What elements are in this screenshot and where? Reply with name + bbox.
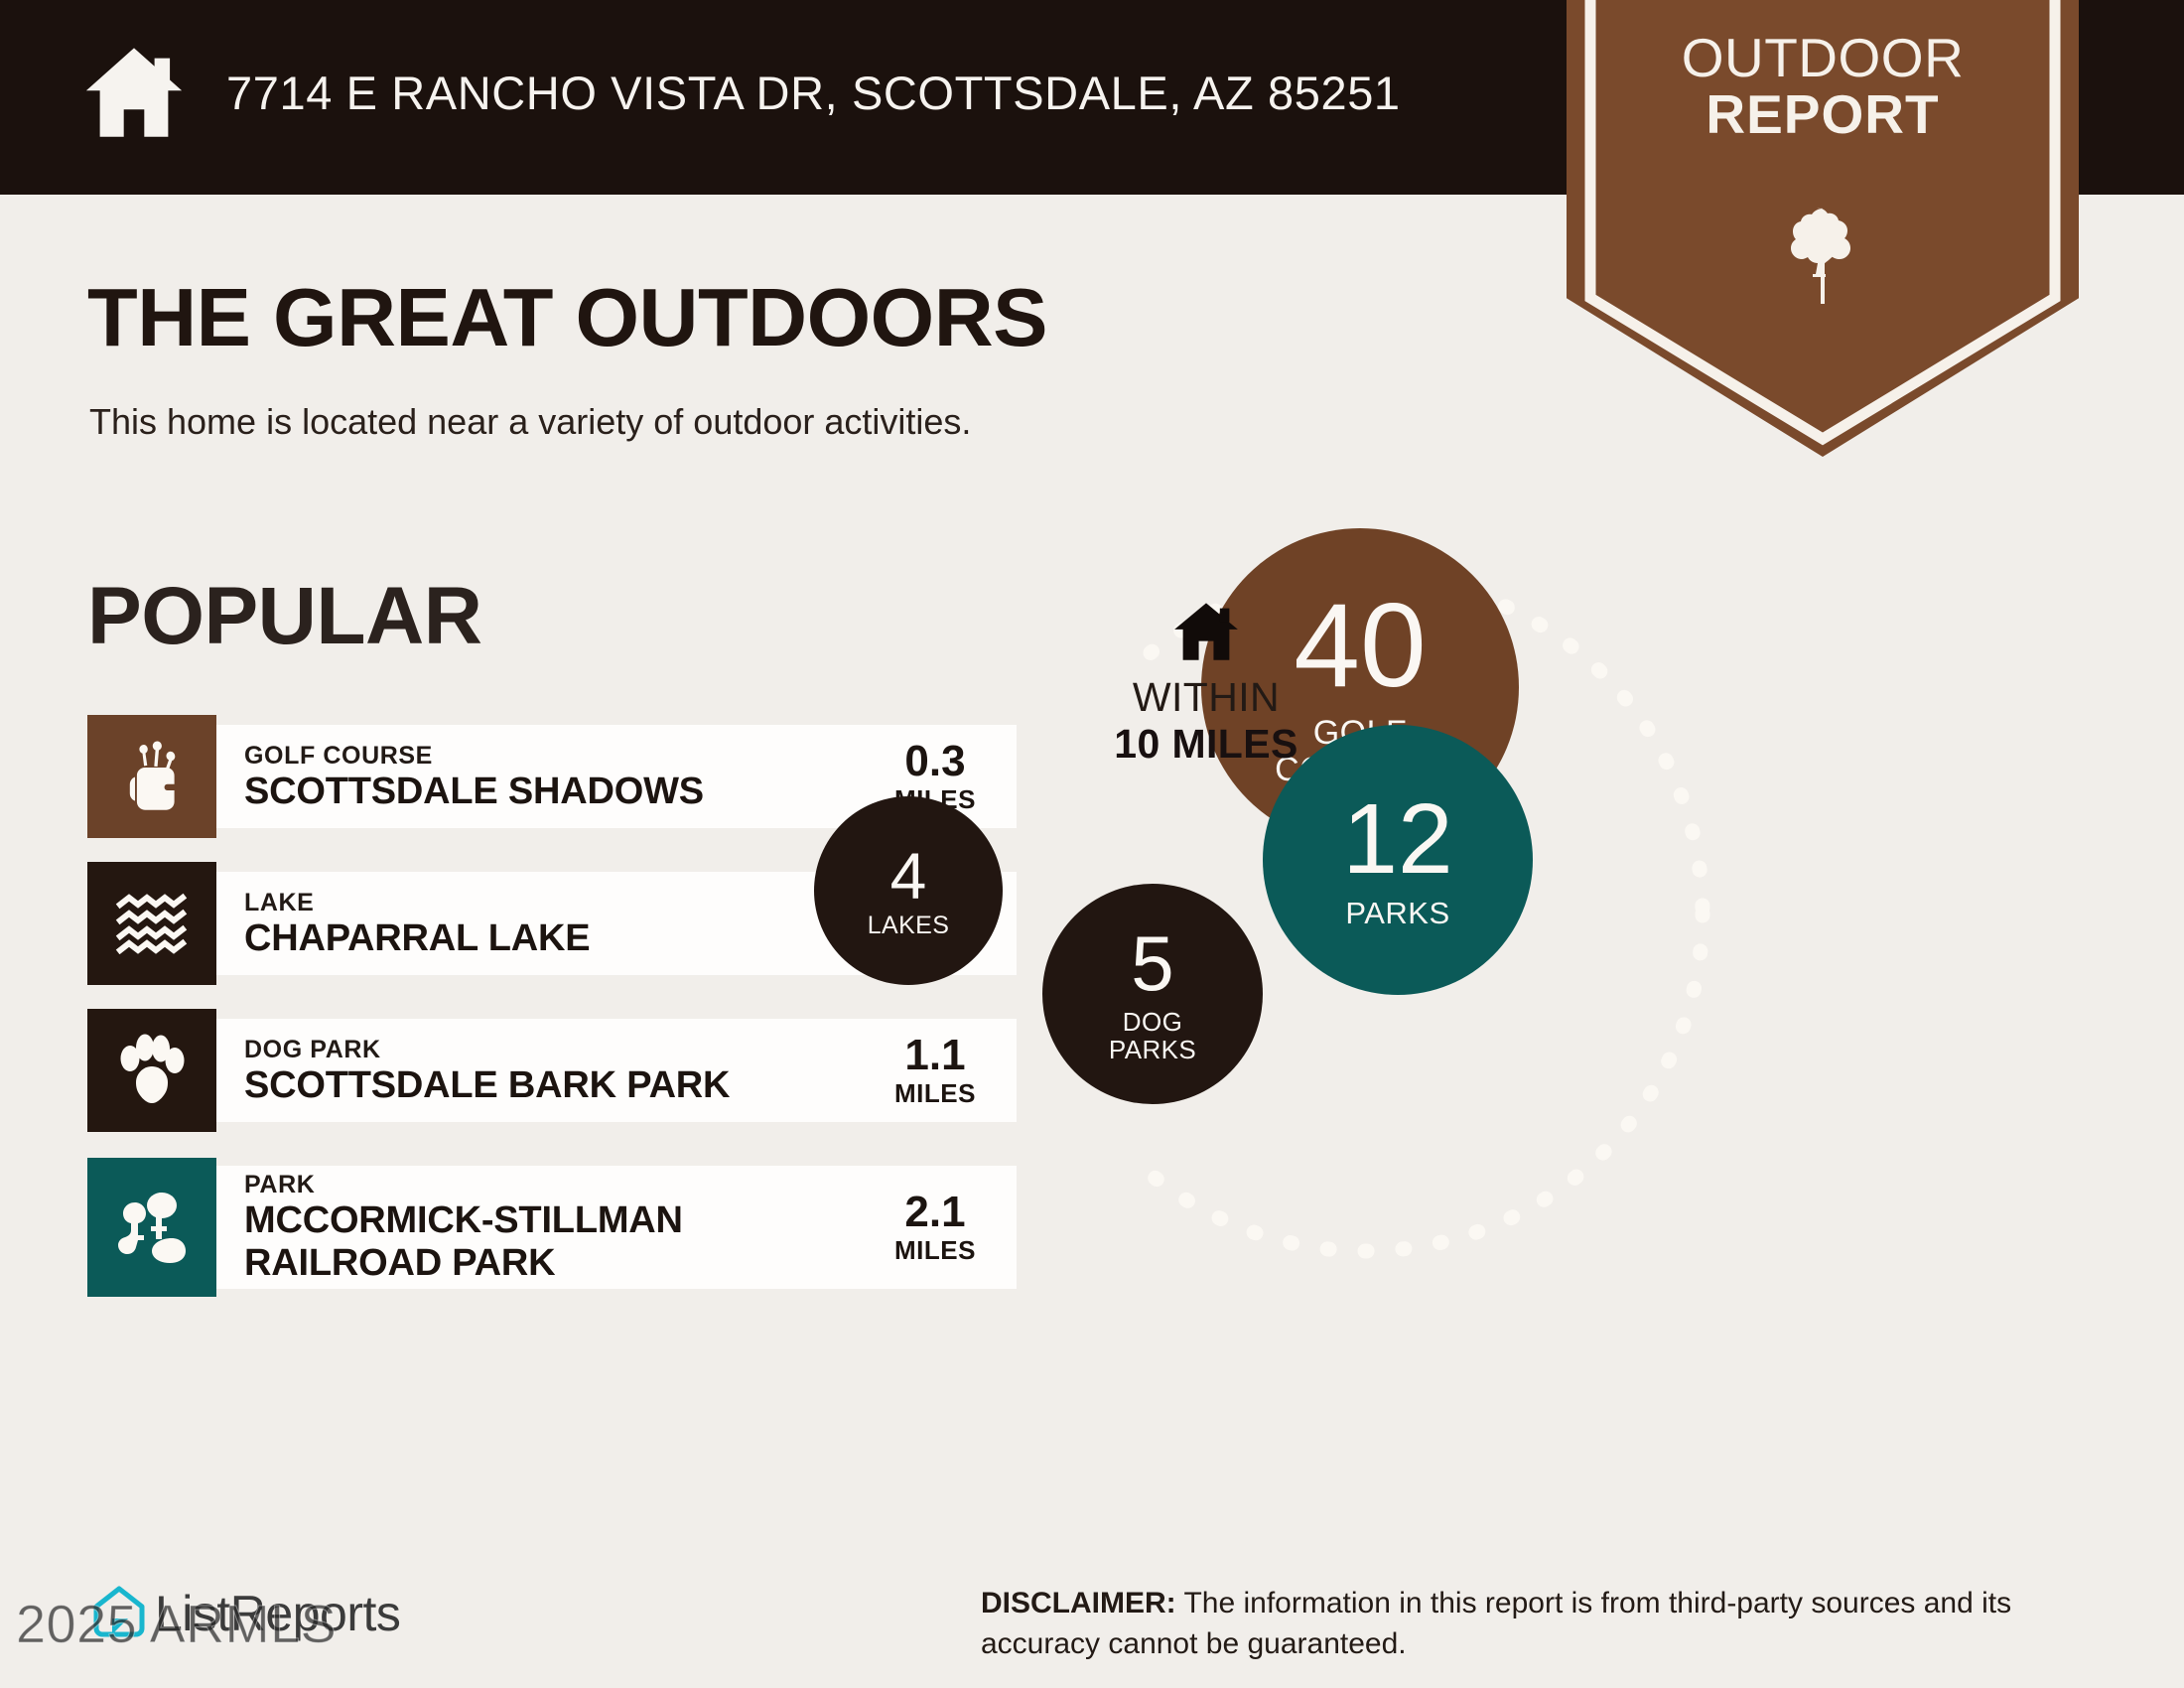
list-item-category: PARK xyxy=(244,1170,858,1199)
list-item-icon-tile xyxy=(87,715,216,838)
mls-watermark: 2025 ARMLS xyxy=(16,1594,337,1655)
park-trees-icon xyxy=(115,1189,189,1266)
property-address: 7714 E RANCHO VISTA DR, SCOTTSDALE, AZ 8… xyxy=(226,66,1401,120)
tree-icon xyxy=(1787,207,1858,316)
center-marker-line2: 10 MILES xyxy=(1057,720,1355,768)
center-marker: WITHIN 10 MILES xyxy=(1057,601,1355,768)
stat-label: LAKES xyxy=(868,913,950,939)
stat-label-line2: PARKS xyxy=(1109,1036,1196,1063)
distance-unit: MILES xyxy=(894,1078,976,1108)
list-item-icon-tile xyxy=(87,862,216,985)
home-icon xyxy=(1172,601,1240,662)
stat-label-line1: DOG xyxy=(1109,1008,1196,1036)
badge-title: OUTDOOR REPORT xyxy=(1567,30,2079,143)
badge-title-line1: OUTDOOR xyxy=(1567,30,2079,86)
list-item[interactable]: PARK MCCORMICK-STILLMAN RAILROAD PARK 2.… xyxy=(87,1166,1017,1289)
page-title: THE GREAT OUTDOORS xyxy=(87,270,1047,365)
stat-circle-dog-parks[interactable]: 5 DOG PARKS xyxy=(1042,884,1263,1104)
list-item-distance: 1.1 MILES xyxy=(868,1019,1003,1122)
nearby-summary-diagram: 40 GOLF COURSES 12 PARKS 5 DOG PARKS 4 L… xyxy=(1142,496,2184,1489)
list-item[interactable]: DOG PARK SCOTTSDALE BARK PARK 1.1 MILES xyxy=(87,1019,1017,1122)
list-item-text: PARK MCCORMICK-STILLMAN RAILROAD PARK xyxy=(244,1166,858,1289)
distance-value: 1.1 xyxy=(904,1033,965,1078)
center-marker-line1: WITHIN xyxy=(1057,674,1355,720)
list-item-distance: 2.1 MILES xyxy=(868,1166,1003,1289)
list-item-icon-tile xyxy=(87,1009,216,1132)
list-item-name: SCOTTSDALE SHADOWS xyxy=(244,771,868,813)
outdoor-report-page: 7714 E RANCHO VISTA DR, SCOTTSDALE, AZ 8… xyxy=(0,0,2184,1688)
page-subtitle: This home is located near a variety of o… xyxy=(89,401,971,443)
home-icon xyxy=(79,38,189,147)
list-item-text: GOLF COURSE SCOTTSDALE SHADOWS xyxy=(244,725,868,828)
golf-bag-icon xyxy=(121,739,183,814)
list-item-name: SCOTTSDALE BARK PARK xyxy=(244,1064,868,1107)
stat-circle-lakes[interactable]: 4 LAKES xyxy=(814,796,1003,985)
disclaimer: DISCLAIMER: The information in this repo… xyxy=(981,1583,2122,1664)
distance-value: 0.3 xyxy=(904,739,965,784)
disclaimer-label: DISCLAIMER: xyxy=(981,1587,1176,1619)
list-item-text: LAKE CHAPARRAL LAKE xyxy=(244,872,868,975)
list-item-category: DOG PARK xyxy=(244,1035,868,1064)
list-item-text: DOG PARK SCOTTSDALE BARK PARK xyxy=(244,1019,868,1122)
list-item-icon-tile xyxy=(87,1158,216,1297)
waves-icon xyxy=(114,893,190,954)
badge-title-line2: REPORT xyxy=(1567,86,2079,143)
stat-count: 4 xyxy=(890,843,927,909)
list-item-category: LAKE xyxy=(244,888,868,917)
list-item-category: GOLF COURSE xyxy=(244,741,868,771)
popular-heading: POPULAR xyxy=(87,570,481,663)
stat-label: DOG PARKS xyxy=(1109,1008,1196,1063)
outdoor-report-badge: OUTDOOR REPORT xyxy=(1567,0,2079,457)
distance-value: 2.1 xyxy=(904,1190,965,1235)
stat-label: PARKS xyxy=(1345,897,1449,929)
paw-print-icon xyxy=(117,1034,187,1107)
list-item-name: CHAPARRAL LAKE xyxy=(244,917,868,960)
stat-count: 12 xyxy=(1342,789,1452,889)
stat-count: 5 xyxy=(1131,924,1173,1002)
list-item-name: MCCORMICK-STILLMAN RAILROAD PARK xyxy=(244,1199,858,1285)
distance-unit: MILES xyxy=(894,1235,976,1265)
